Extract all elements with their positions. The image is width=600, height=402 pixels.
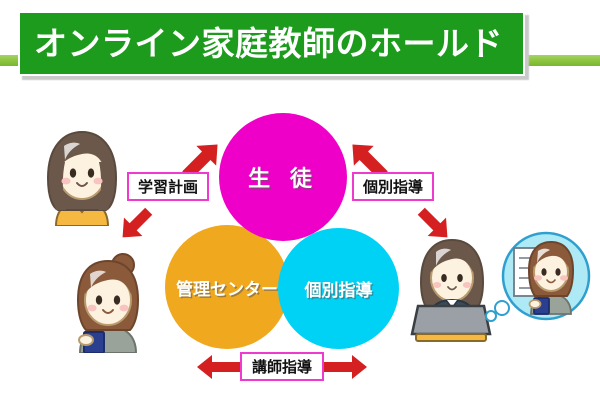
arrow-right-icon xyxy=(324,354,368,380)
label-individual-guidance-text: 個別指導 xyxy=(363,176,423,197)
circle-management-center-label: 管理センター xyxy=(176,275,278,300)
arrow-left-icon xyxy=(196,354,240,380)
figure-tutor-thought-bubble xyxy=(484,228,596,338)
circle-individual-instruction-label: 個別指導 xyxy=(305,276,373,301)
circle-student-label: 生 徒 xyxy=(248,161,318,193)
label-individual-guidance: 個別指導 xyxy=(352,172,434,201)
label-study-plan: 学習計画 xyxy=(127,172,209,201)
arrow-down-left-icon xyxy=(110,198,162,250)
title-band: オンライン家庭教師のホールド xyxy=(18,11,525,76)
label-instructor-guidance-text: 講師指導 xyxy=(252,356,312,377)
arrow-down-right-icon xyxy=(408,198,460,250)
circle-individual-instruction: 個別指導 xyxy=(278,228,399,349)
page-title: オンライン家庭教師のホールド xyxy=(20,27,503,60)
circle-student: 生 徒 xyxy=(219,113,347,241)
circle-management-center: 管理センター xyxy=(165,225,289,349)
figure-staff-woman xyxy=(60,248,156,353)
slide-canvas: オンライン家庭教師のホールド xyxy=(0,0,600,402)
label-instructor-guidance: 講師指導 xyxy=(240,352,324,381)
label-study-plan-text: 学習計画 xyxy=(138,176,198,197)
